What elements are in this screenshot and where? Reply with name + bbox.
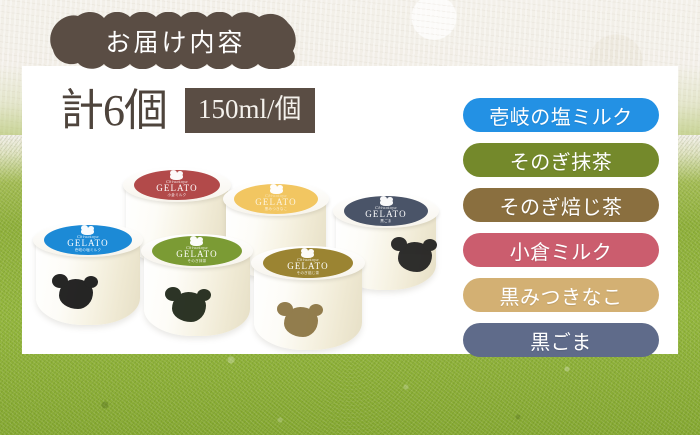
flavor-pill-label: 小倉ミルク	[510, 236, 613, 265]
brand-script: Chiwataya	[375, 206, 397, 210]
total-count-text: 計6個	[60, 86, 167, 135]
brand-script: Chiwataya	[186, 246, 208, 250]
brand-script: Chiwataya	[166, 180, 188, 184]
cup-lid: Chiwataya GELATO そのぎ焙じ茶	[263, 248, 354, 278]
cup-lid: Chiwataya GELATO 壱岐の塩ミルク	[44, 225, 131, 255]
cup-flavor-name: そのぎ焙じ茶	[297, 272, 320, 276]
promo-banner-stage: お届け内容 計6個 150ml/個 Chiwataya GELATO 小倉ミルク…	[0, 0, 700, 435]
brand-script: Chiwataya	[77, 235, 99, 239]
header-banner: お届け内容	[50, 12, 298, 69]
cup-flavor-name: そのぎ抹茶	[188, 260, 207, 264]
total-count: 計6個	[60, 89, 167, 133]
cup-lid: Chiwataya GELATO 黒ごま	[344, 196, 428, 226]
brand-script: Chiwataya	[297, 258, 319, 262]
gelato-cup-iki-salt-milk: Chiwataya GELATO 壱岐の塩ミルク	[36, 217, 140, 327]
flavor-pill-sonogi-hojicha[interactable]: そのぎ焙じ茶	[463, 188, 659, 222]
flavor-pill-kuromitsu-kinako[interactable]: 黒みつきなこ	[463, 278, 659, 312]
cup-flavor-name: 黒みつきなこ	[265, 208, 288, 212]
cup-blob-mark	[172, 292, 206, 322]
flavor-pill-kurogoma[interactable]: 黒ごま	[463, 323, 659, 357]
flavor-list: 壱岐の塩ミルク そのぎ抹茶 そのぎ焙じ茶 小倉ミルク 黒みつきなこ 黒ごま	[463, 98, 659, 357]
cup-lid: Chiwataya GELATO 黒みつきなこ	[234, 184, 318, 214]
flavor-pill-label: そのぎ抹茶	[510, 146, 613, 175]
summary-headline: 計6個 150ml/個	[60, 88, 315, 133]
cup-lid: Chiwataya GELATO 小倉ミルク	[134, 170, 220, 200]
cup-flavor-name: 小倉ミルク	[168, 194, 187, 198]
cup-flavor-name: 壱岐の塩ミルク	[75, 249, 102, 253]
flavor-pill-label: 壱岐の塩ミルク	[489, 101, 633, 130]
gelato-cup-sonogi-matcha: Chiwataya GELATO そのぎ抹茶	[144, 228, 250, 338]
cup-blob-mark	[398, 242, 432, 272]
flavor-pill-label: 黒みつきなこ	[500, 281, 623, 310]
header-banner-label: お届け内容	[50, 12, 298, 69]
flavor-pill-label: そのぎ焙じ茶	[500, 191, 623, 220]
cup-lid: Chiwataya GELATO そのぎ抹茶	[152, 236, 241, 266]
flavor-pill-ogura-milk[interactable]: 小倉ミルク	[463, 233, 659, 267]
volume-badge: 150ml/個	[185, 88, 315, 133]
flavor-pill-label: 黒ごま	[530, 326, 592, 355]
gelato-cup-sonogi-hojicha: Chiwataya GELATO そのぎ焙じ茶	[254, 240, 362, 352]
flavor-pill-sonogi-matcha[interactable]: そのぎ抹茶	[463, 143, 659, 177]
cup-blob-mark	[59, 279, 93, 309]
cup-flavor-name: 黒ごま	[380, 220, 391, 224]
flavor-pill-iki-salt-milk[interactable]: 壱岐の塩ミルク	[463, 98, 659, 132]
gelato-cups-photo: Chiwataya GELATO 小倉ミルク Chiwataya GELATO …	[36, 162, 456, 357]
